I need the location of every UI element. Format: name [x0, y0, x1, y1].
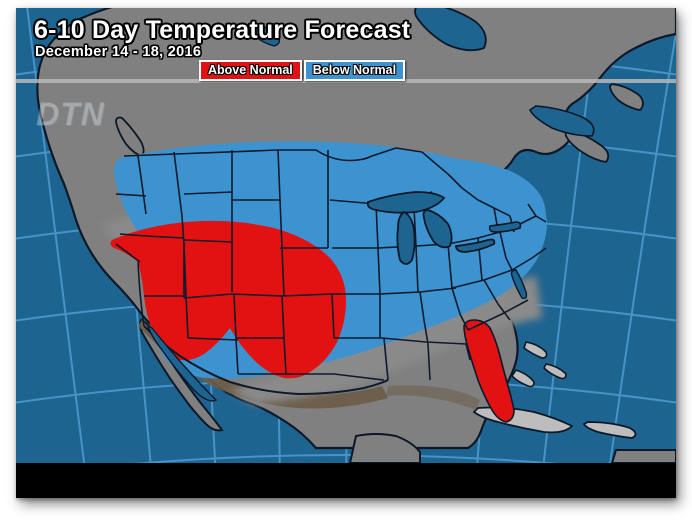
- gulf-st-lawrence: [530, 106, 594, 136]
- legend-below-normal[interactable]: Below Normal: [304, 60, 405, 81]
- lake-ontario: [490, 222, 521, 232]
- lake-michigan: [397, 212, 414, 264]
- weather-map-card: DTN 6-10 Day Temperature Forecast Decemb…: [16, 8, 676, 498]
- gulf-of-california: [148, 326, 216, 401]
- hudson-bay: [415, 8, 486, 50]
- lake-huron-erie: [424, 210, 495, 252]
- lake-superior: [368, 192, 444, 213]
- map-footer-bar: [16, 463, 676, 498]
- chesapeake-bay: [512, 270, 527, 298]
- legend: Above Normal Below Normal: [199, 60, 405, 81]
- page-frame: DTN 6-10 Day Temperature Forecast Decemb…: [0, 0, 692, 532]
- great-bear-lake: [250, 24, 279, 46]
- legend-above-normal[interactable]: Above Normal: [199, 60, 302, 81]
- map-canvas: DTN 6-10 Day Temperature Forecast Decemb…: [16, 8, 676, 463]
